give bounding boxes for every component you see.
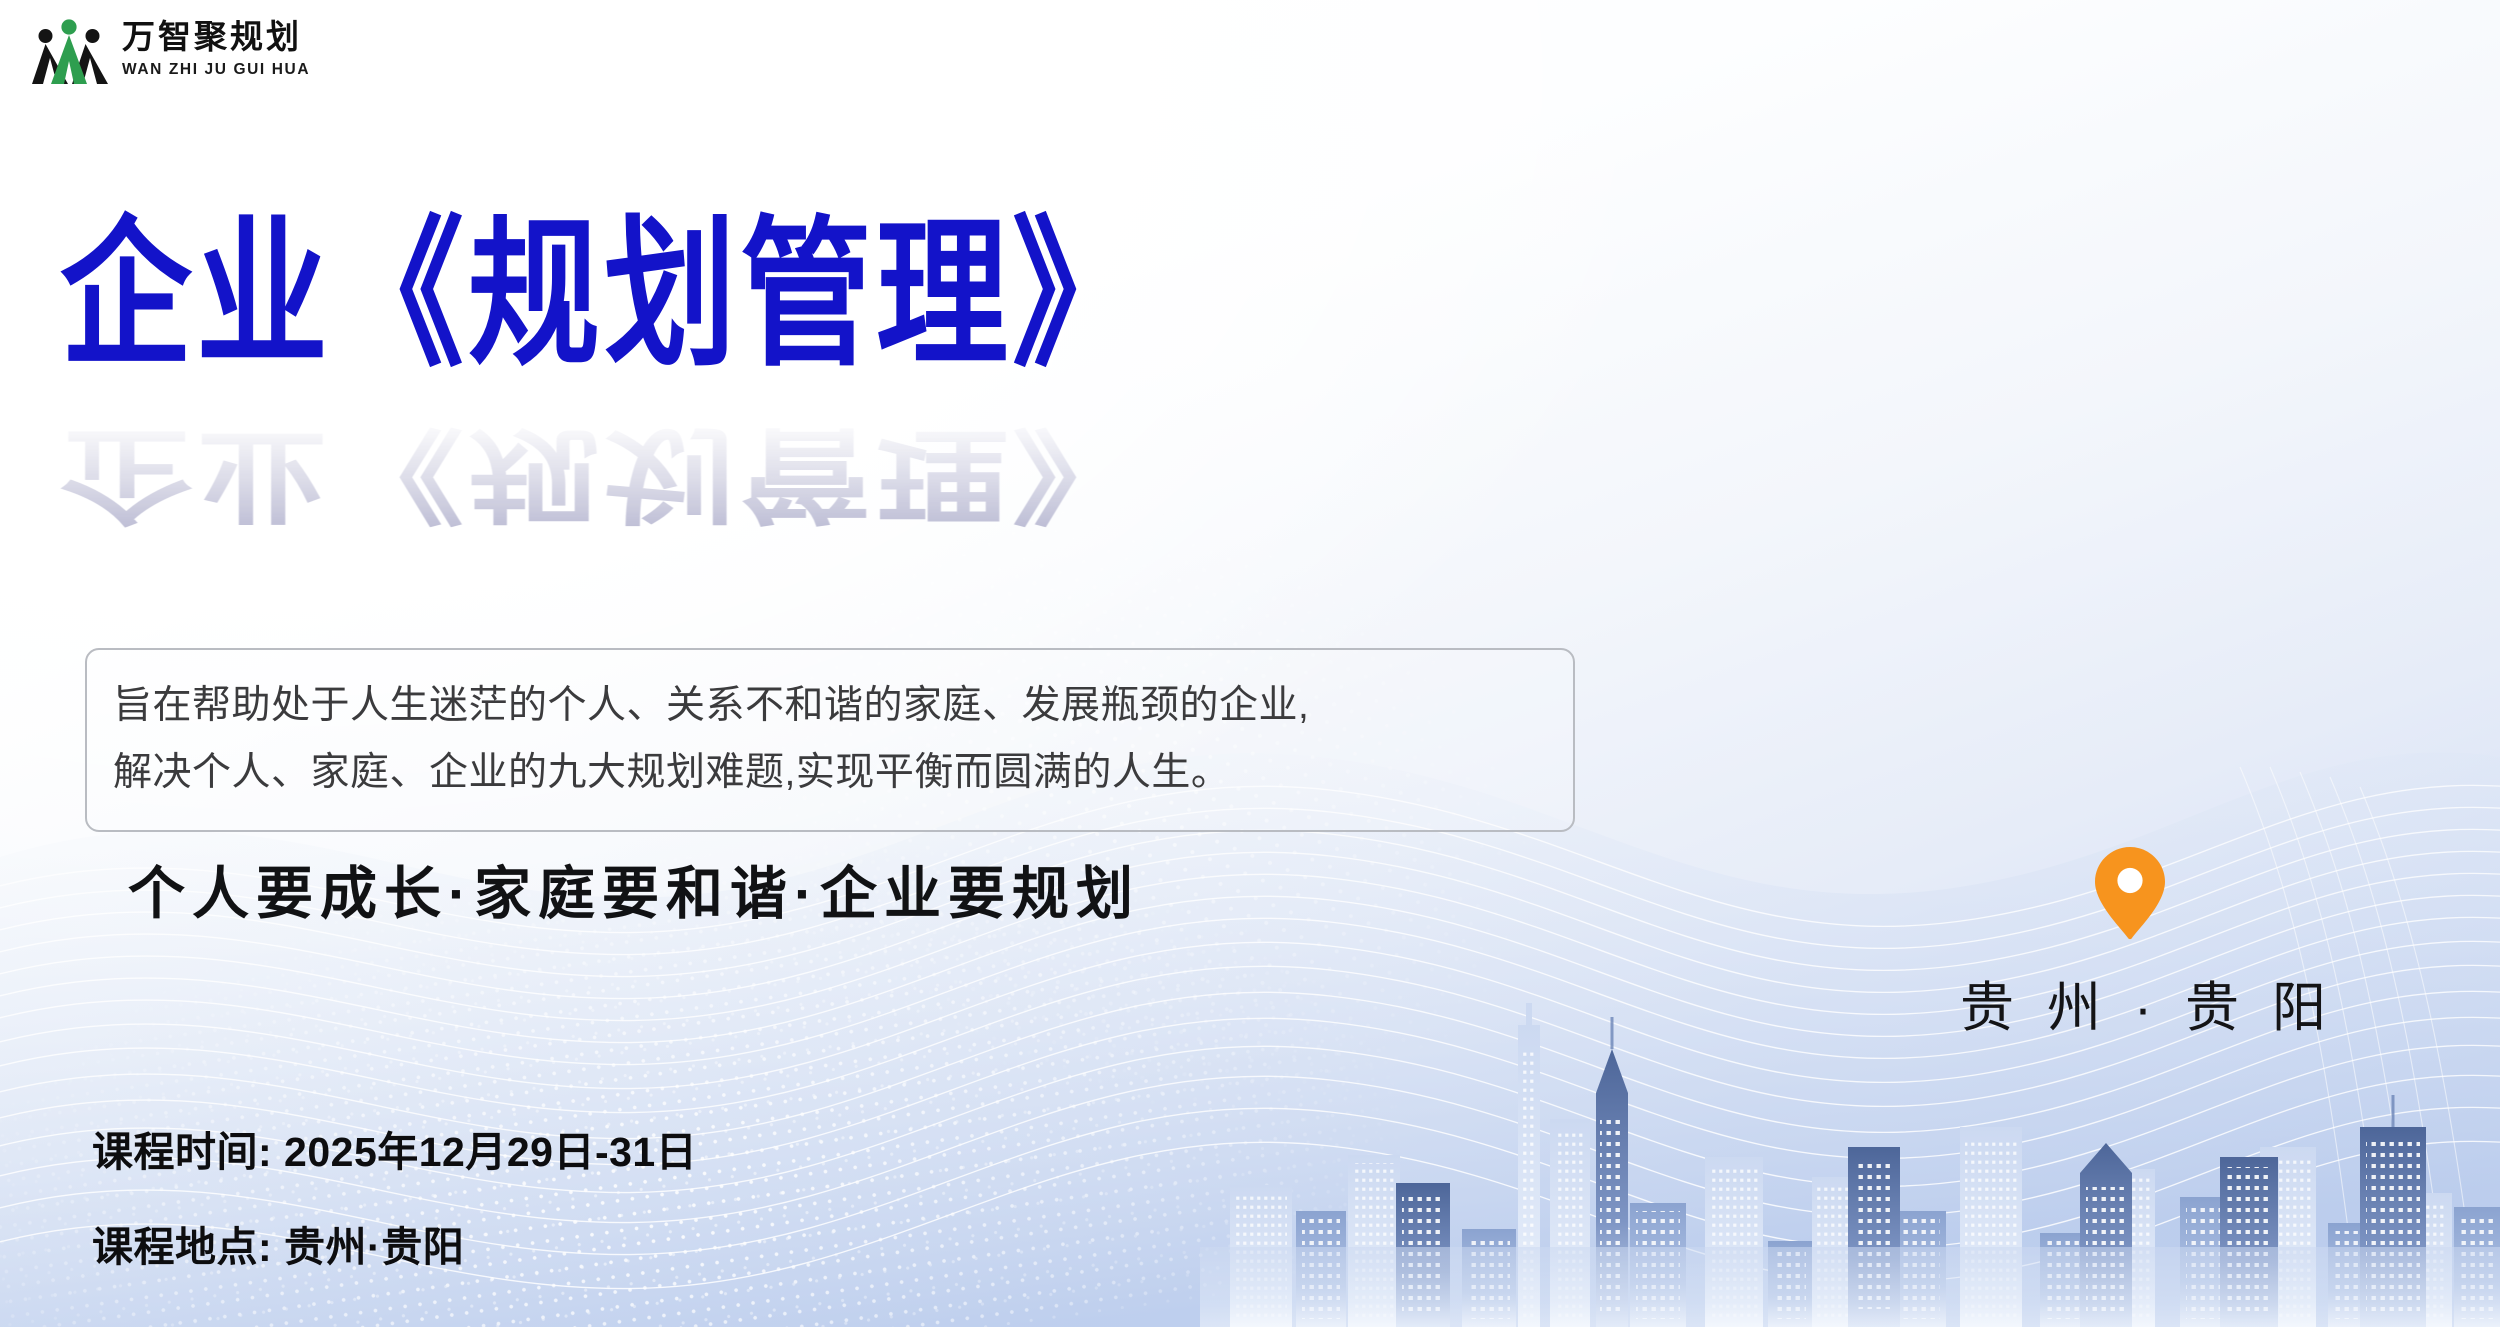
description-line-1: 旨在帮助处于人生迷茫的个人、关系不和谐的家庭、发展瓶颈的企业,	[113, 672, 1547, 739]
poster-canvas: 万智聚规划 WAN ZHI JU GUI HUA 企业《规划管理》 企业《规划管…	[0, 0, 2500, 1327]
city-skyline-icon	[1200, 997, 2500, 1327]
page-title-reflection: 企业《规划管理》	[60, 416, 1148, 531]
map-pin-icon	[2094, 845, 2166, 941]
course-place: 课程地点: 贵州·贵阳	[92, 1213, 697, 1273]
slogan-text: 个人要成长·家庭要和谐·企业要规划	[128, 848, 1140, 930]
brand-name-pinyin: WAN ZHI JU GUI HUA	[122, 62, 310, 78]
location-name: 贵 州 · 贵 阳	[1960, 963, 2300, 1042]
hero-title-block: 企业《规划管理》 企业《规划管理》	[60, 205, 1148, 679]
course-info-block: 课程时间: 2025年12月29日-31日 课程地点: 贵州·贵阳	[92, 1118, 697, 1273]
description-line-2: 解决个人、家庭、企业的九大规划难题,实现平衡而圆满的人生。	[113, 739, 1547, 806]
brand-logo[interactable]: 万智聚规划 WAN ZHI JU GUI HUA	[30, 14, 310, 86]
course-time: 课程时间: 2025年12月29日-31日	[92, 1118, 697, 1178]
location-block: 贵 州 · 贵 阳	[1960, 845, 2300, 1042]
brand-name-cn: 万智聚规划	[122, 22, 310, 55]
three-people-logo-icon	[30, 14, 108, 86]
description-box: 旨在帮助处于人生迷茫的个人、关系不和谐的家庭、发展瓶颈的企业, 解决个人、家庭、…	[85, 648, 1575, 832]
page-title: 企业《规划管理》	[60, 205, 1148, 385]
